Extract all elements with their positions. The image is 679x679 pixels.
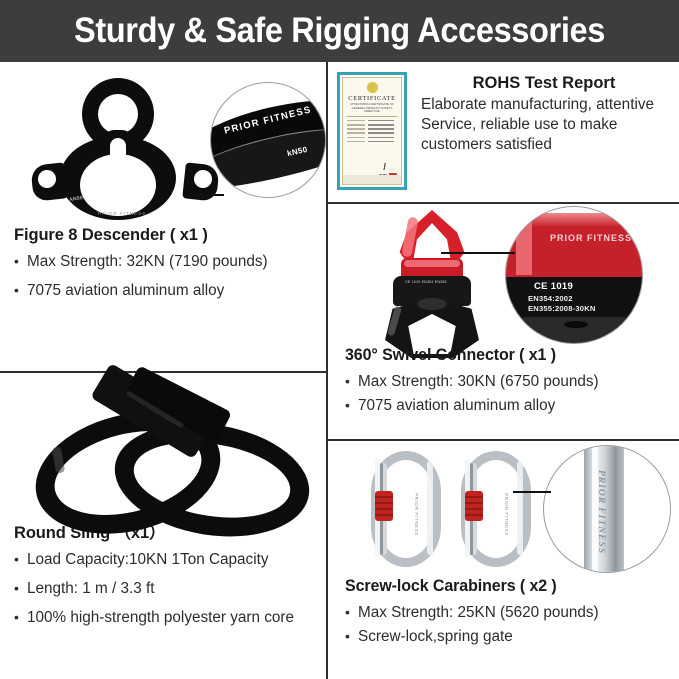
certificate-heading: CERTIFICATE <box>348 95 395 102</box>
bullet-item: Load Capacity:10KN 1Ton Capacity <box>14 550 313 570</box>
swivel-magnifier-circle: PRIOR FITNESS CE 1019 EN354:2002 EN355:2… <box>505 206 643 344</box>
bullet-item: 100% high-strength polyester yarn core <box>14 608 313 628</box>
carabiner-leader-line <box>513 491 551 493</box>
magnifier-engraved-text: PRIOR FITNESS <box>596 470 606 554</box>
page-title: Sturdy & Safe Rigging Accessories <box>74 11 605 51</box>
carabiner-image-area: PRIOR FITNESS PRIOR FITNESS PRIOR FITNES… <box>345 445 667 577</box>
carabiner-icon-1: PRIOR FITNESS <box>371 451 441 567</box>
section-round-sling: Round Sling （x1） Load Capacity:10KN 1Ton… <box>0 371 327 679</box>
bullet-item: Max Strength: 30KN (6750 pounds) <box>345 372 667 392</box>
carabiners-bullets: Max Strength: 25KN (5620 pounds) Screw-l… <box>345 603 667 647</box>
swivel-leader-line <box>441 252 515 254</box>
rohs-title: ROHS Test Report <box>421 74 667 93</box>
magnifier-brand-text: PRIOR FITNESS <box>550 233 632 243</box>
figure-8-title: Figure 8 Descender ( x1 ) <box>14 226 313 245</box>
carabiner-engraving: PRIOR FITNESS <box>504 493 509 536</box>
rohs-body-text: Elaborate manufacturing, attentive Servi… <box>421 95 667 155</box>
sling-image-area <box>14 379 313 519</box>
bullet-item: Screw-lock,spring gate <box>345 627 667 647</box>
carabiner-magnifier-circle: PRIOR FITNESS <box>543 445 671 573</box>
swivel-title: 360° Swivel Connector ( x1 ) <box>345 346 657 365</box>
round-sling-icon <box>30 385 290 513</box>
figure-8-leader-line <box>200 194 224 196</box>
carabiner-icon-2: PRIOR FITNESS <box>461 451 531 567</box>
section-swivel-connector: CE 1019 EN354 EN355 PRIOR FITNESS CE 101… <box>327 202 679 439</box>
section-screw-lock-carabiners: PRIOR FITNESS PRIOR FITNESS PRIOR FITNES… <box>327 439 679 679</box>
bullet-item: Length: 1 m / 3.3 ft <box>14 579 313 599</box>
magnifier-standard-1: EN354:2002 <box>528 294 573 303</box>
bullet-item: 7075 aviation aluminum alloy <box>345 396 667 416</box>
swivel-connector-icon: CE 1019 EN354 EN355 <box>371 210 491 338</box>
carabiner-engraving: PRIOR FITNESS <box>414 493 419 536</box>
header-bar: Sturdy & Safe Rigging Accessories <box>0 0 679 62</box>
section-rohs-test-report: CERTIFICATE ATTESTATION CERTIFICATE OF G… <box>327 62 679 202</box>
swivel-bullets: Max Strength: 30KN (6750 pounds) 7075 av… <box>345 372 667 416</box>
infographic-page: Sturdy & Safe Rigging Accessories kN50 P… <box>0 0 679 679</box>
figure-8-bullets: Max Strength: 32KN (7190 pounds) 7075 av… <box>14 252 313 301</box>
carabiners-title: Screw-lock Carabiners ( x2 ) <box>345 577 657 596</box>
bullet-item: Max Strength: 32KN (7190 pounds) <box>14 252 313 272</box>
certificate-subheading: ATTESTATION CERTIFICATE OF GENERAL PRODU… <box>347 103 397 114</box>
magnifier-standard-2: EN355:2008-30KN <box>528 304 596 313</box>
magnifier-ce-text: CE 1019 <box>534 281 573 292</box>
figure-8-magnifier-circle: PRIOR FITNESS kN50 <box>210 82 326 198</box>
swivel-image-area: CE 1019 EN354 EN355 PRIOR FITNESS CE 101… <box>345 206 667 346</box>
figure-8-descender-icon: kN50 PRIOR FITNESS <box>36 78 216 220</box>
bullet-item: 7075 aviation aluminum alloy <box>14 281 313 301</box>
certificate-seal-icon <box>367 82 378 93</box>
figure-8-image-area: kN50 PRIOR FITNESS PRIOR FITNESS kN50 <box>14 68 313 226</box>
certificate-image: CERTIFICATE ATTESTATION CERTIFICATE OF G… <box>337 72 407 190</box>
section-figure-8-descender: kN50 PRIOR FITNESS PRIOR FITNESS kN50 Fi… <box>0 62 327 371</box>
figure-8-engraving-brand: PRIOR FITNESS <box>98 211 146 216</box>
sling-bullets: Load Capacity:10KN 1Ton Capacity Length:… <box>14 550 313 628</box>
bullet-item: Max Strength: 25KN (5620 pounds) <box>345 603 667 623</box>
